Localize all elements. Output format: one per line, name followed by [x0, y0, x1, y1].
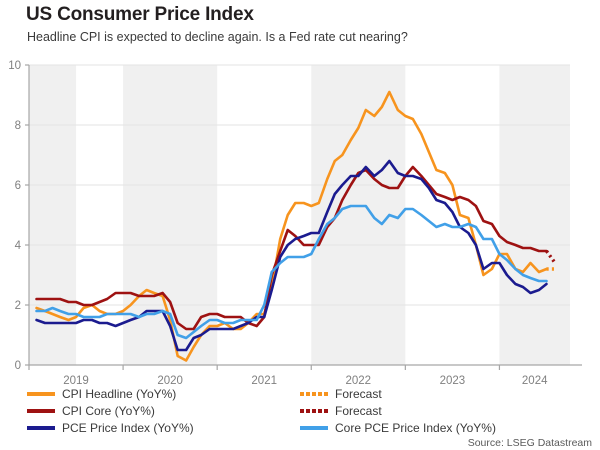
legend-item-4[interactable]: Forecast [300, 403, 382, 418]
legend-swatch-3 [300, 392, 328, 396]
legend-swatch-0 [27, 392, 55, 396]
series-line-0 [37, 92, 547, 361]
axis-ticks [25, 65, 499, 370]
legend-item-5[interactable]: Core PCE Price Index (YoY%) [300, 420, 496, 435]
series-line-3 [37, 206, 547, 338]
y-axis-label-6: 6 [15, 180, 21, 192]
legend-label-3: Forecast [335, 388, 382, 400]
legend-item-0[interactable]: CPI Headline (YoY%) [27, 386, 176, 401]
legend-label-1: CPI Core (YoY%) [62, 405, 155, 417]
legend-swatch-5 [300, 426, 328, 430]
source-attribution: Source: LSEG Datastream [468, 437, 592, 449]
data-series-group [37, 92, 547, 361]
legend-label-4: Forecast [335, 405, 382, 417]
legend-item-1[interactable]: CPI Core (YoY%) [27, 403, 155, 418]
y-axis-labels: 0246810 [8, 60, 21, 372]
legend-item-2[interactable]: PCE Price Index (YoY%) [27, 420, 194, 435]
y-axis-label-0: 0 [15, 360, 21, 372]
y-axis-label-8: 8 [15, 120, 21, 132]
legend-item-3[interactable]: Forecast [300, 386, 382, 401]
series-line-2 [37, 161, 547, 350]
shaded-bands [29, 65, 570, 365]
y-axis-label-10: 10 [8, 60, 21, 72]
legend-label-5: Core PCE Price Index (YoY%) [335, 422, 496, 434]
legend-swatch-2 [27, 426, 55, 430]
y-axis-label-2: 2 [15, 300, 21, 312]
legend-label-0: CPI Headline (YoY%) [62, 388, 176, 400]
gridlines [29, 65, 570, 305]
legend-swatch-1 [27, 409, 55, 413]
legend-swatch-4 [300, 409, 328, 413]
y-axis-label-4: 4 [15, 240, 22, 252]
legend-label-2: PCE Price Index (YoY%) [62, 422, 194, 434]
line-chart-svg: 0246810 201920202021202220232024 [0, 0, 600, 450]
axis-lines [29, 65, 582, 365]
chart-container: US Consumer Price Index Headline CPI is … [0, 0, 600, 450]
shaded-band-3 [499, 65, 570, 365]
